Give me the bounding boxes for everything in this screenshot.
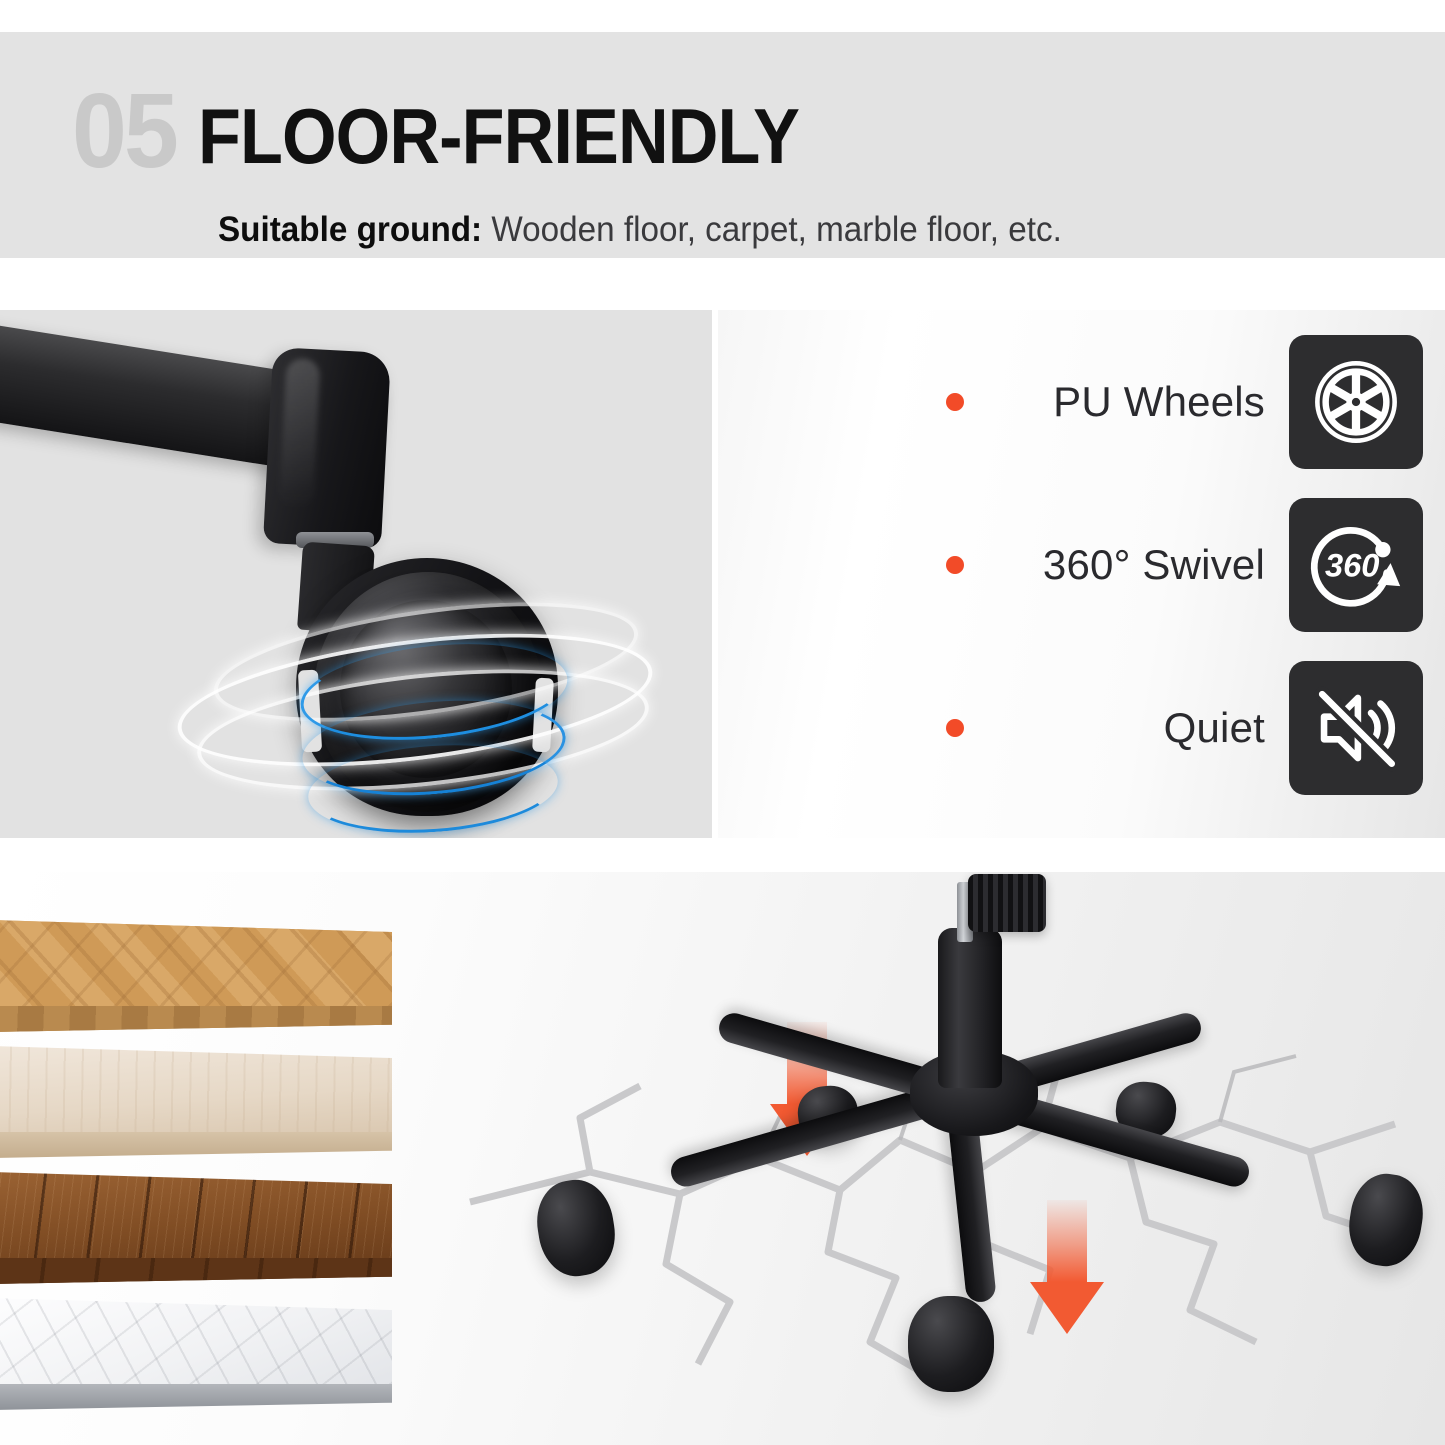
svg-text:360: 360: [1325, 547, 1379, 584]
infographic-page: 05 FLOOR-FRIENDLY Suitable ground: Woode…: [0, 0, 1445, 1445]
subtitle: Suitable ground: Wooden floor, carpet, m…: [218, 212, 1062, 247]
gas-lift-knob: [968, 874, 1046, 932]
feature-label: PU Wheels: [1053, 378, 1265, 426]
top-section: PU Wheels: [0, 310, 1445, 838]
speaker-mute-icon: [1289, 661, 1423, 795]
caster-wheel-photo: [0, 310, 712, 838]
arrow-head: [1030, 1282, 1104, 1334]
bottom-section: [0, 872, 1445, 1445]
caster-fork-gap-right: [532, 678, 554, 753]
floor-sample-pale-wood-plank: [0, 1046, 392, 1158]
page-title: FLOOR-FRIENDLY: [198, 97, 799, 175]
feature-label: 360° Swivel: [1043, 541, 1265, 589]
feature-item-360-swivel: 360° Swivel 360: [718, 495, 1445, 635]
title-row: 05 FLOOR-FRIENDLY: [72, 78, 866, 184]
feature-item-pu-wheels: PU Wheels: [718, 332, 1445, 472]
slab-edge: [0, 1132, 392, 1158]
arrow-tail: [1047, 1200, 1087, 1282]
floor-samples-stack: [0, 920, 412, 1420]
slab-edge: [0, 1384, 392, 1410]
rotate-360-icon: 360: [1289, 498, 1423, 632]
floor-sample-herringbone-parquet: [0, 920, 392, 1032]
subtitle-label: Suitable ground:: [218, 210, 482, 249]
header-band: 05 FLOOR-FRIENDLY Suitable ground: Woode…: [0, 32, 1445, 258]
bullet-icon: [946, 556, 964, 574]
slab-face: [0, 920, 392, 1006]
bullet-icon: [946, 393, 964, 411]
feature-panel: PU Wheels: [718, 310, 1445, 838]
slab-edge: [0, 1258, 392, 1284]
pressure-arrow-right: [1030, 1200, 1104, 1334]
caster-wheel-disc: [314, 572, 542, 812]
caster-fork-gap-left: [298, 670, 322, 753]
slab-face: [0, 1046, 392, 1132]
slab-face: [0, 1172, 392, 1258]
armrest-elbow: [263, 347, 391, 549]
chair-base-photo: [430, 872, 1445, 1445]
slab-face: [0, 1298, 392, 1384]
wheel-icon: [1289, 335, 1423, 469]
gas-lift-cylinder: [938, 928, 1002, 1088]
floor-sample-white-marble: [0, 1298, 392, 1410]
step-number: 05: [72, 78, 176, 184]
bullet-icon: [946, 719, 964, 737]
feature-item-quiet: Quiet: [718, 658, 1445, 798]
floor-sample-dark-wood-plank: [0, 1172, 392, 1284]
subtitle-value: Wooden floor, carpet, marble floor, etc.: [482, 210, 1062, 249]
chair-caster-bottom: [908, 1296, 994, 1392]
feature-label: Quiet: [1164, 704, 1265, 752]
feature-list: PU Wheels: [718, 310, 1445, 838]
slab-edge: [0, 1006, 392, 1032]
